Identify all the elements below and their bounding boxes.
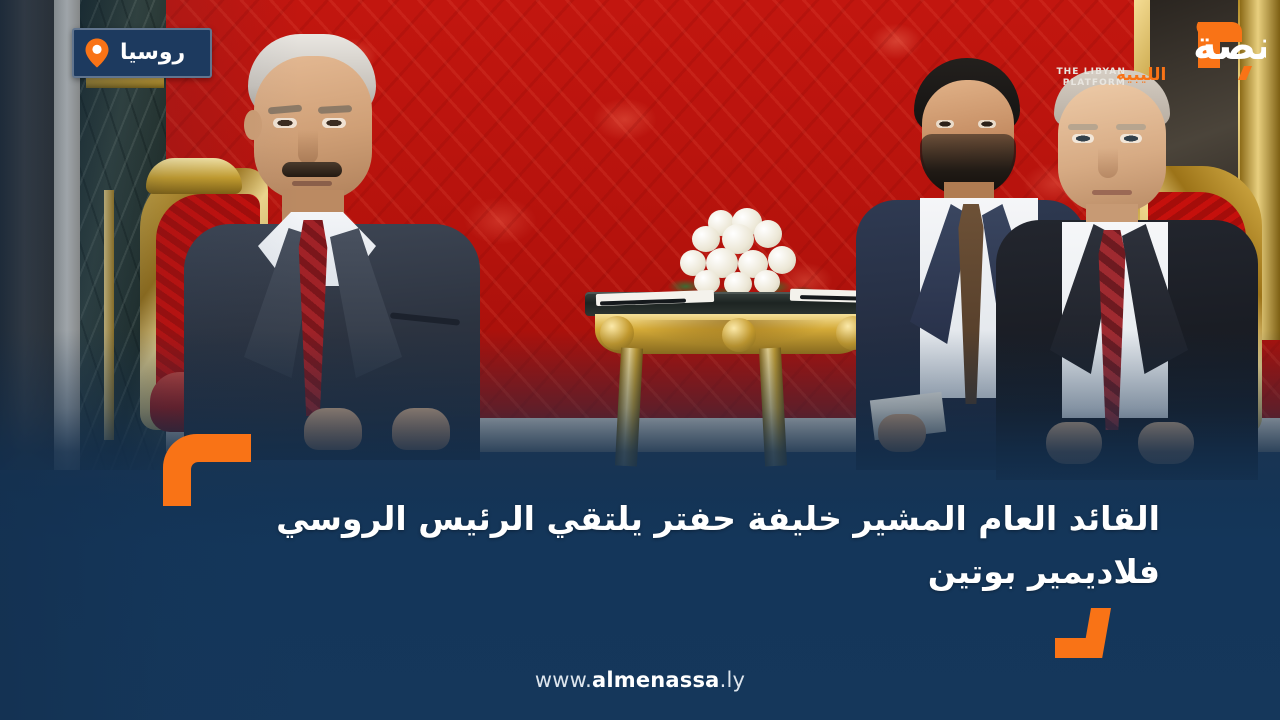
site-logo[interactable]: المنصة الليبية THE LIBYAN PLATFORM xyxy=(1048,14,1266,94)
headline: القائد العام المشير خليفة حفتر يلتقي الر… xyxy=(230,492,1160,599)
table-scroll-ornament xyxy=(722,318,756,352)
location-label: روسيا xyxy=(120,42,185,64)
map-pin-icon xyxy=(84,37,110,69)
person-putin xyxy=(1010,70,1260,460)
location-badge[interactable]: روسيا xyxy=(72,28,212,78)
headline-line-1: القائد العام المشير خليفة حفتر يلتقي الر… xyxy=(230,492,1160,545)
gold-frame-edge xyxy=(104,190,114,440)
person-haftar xyxy=(178,34,488,454)
marble-column-dark xyxy=(0,0,54,470)
table-scroll-ornament xyxy=(600,316,634,350)
site-url-tld: .ly xyxy=(720,668,746,692)
site-url[interactable]: www.almenassa.ly xyxy=(0,668,1280,692)
news-card: روسيا المنصة الليبية THE LIBYAN PLATFORM… xyxy=(0,0,1280,720)
white-flower-bouquet xyxy=(678,208,802,296)
logo-english-line2: PLATFORM xyxy=(1063,78,1126,88)
site-url-prefix: www. xyxy=(535,668,592,692)
logo-arabic-name: المنصة xyxy=(1193,23,1266,69)
logo-english-line1: THE LIBYAN xyxy=(1056,67,1126,77)
headline-line-2: فلاديمير بوتين xyxy=(230,545,1160,598)
site-url-name: almenassa xyxy=(592,668,720,692)
corner-bracket-bottom-right-icon xyxy=(1055,608,1111,658)
